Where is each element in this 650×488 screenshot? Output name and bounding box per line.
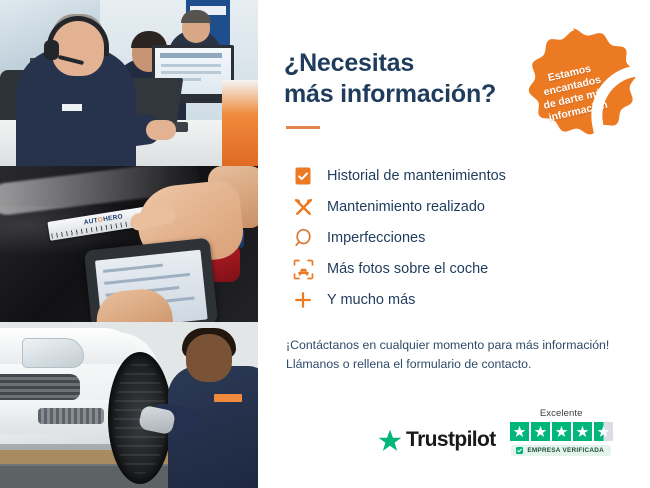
promo-badge: Estamos encantados de darte más informac…: [510, 26, 636, 152]
photo-car-inspection: AUTOHERO: [0, 166, 258, 322]
information-banner: AUTOHERO: [0, 0, 650, 488]
plus-icon: [292, 289, 314, 311]
mechanic-shirt-logo: [214, 394, 242, 402]
monitor-row: [161, 64, 221, 67]
car-air-intake: [38, 408, 104, 424]
agent-name-badge: [62, 104, 82, 111]
trustpilot-rating[interactable]: Trustpilot Excelente: [378, 408, 613, 456]
feature-item-imperfections: Imperfecciones: [292, 223, 650, 254]
photo-call-center: [0, 0, 258, 166]
orange-equipment: [222, 80, 258, 166]
star-filled: [552, 422, 571, 441]
feature-label: Mantenimiento realizado: [327, 199, 485, 215]
star-filled: [573, 422, 592, 441]
verified-business-badge: EMPRESA VERIFICADA: [511, 445, 611, 456]
feature-label: Y mucho más: [327, 292, 415, 308]
tablet-row: [103, 264, 163, 273]
document-check-icon: [292, 165, 314, 187]
trustpilot-logo: Trustpilot: [378, 428, 496, 456]
trustpilot-wordmark: Trustpilot: [406, 428, 496, 452]
monitor-toolbar: [160, 53, 222, 58]
tools-cross-icon: [292, 196, 314, 218]
feature-item-more-photos: Más fotos sobre el coche: [292, 254, 650, 285]
feature-label: Más fotos sobre el coche: [327, 261, 488, 277]
photo-wheel-service: [0, 322, 258, 488]
star-half: [594, 422, 613, 441]
title-underline-rule: [286, 126, 320, 129]
check-square-icon: [516, 447, 523, 454]
monitor-row: [161, 71, 221, 74]
trustpilot-score-block: Excelente: [510, 408, 613, 456]
trustpilot-rating-label: Excelente: [540, 408, 583, 419]
headset-earcup: [44, 40, 59, 60]
trustpilot-star-icon: [378, 429, 402, 452]
feature-item-maintenance-done: Mantenimiento realizado: [292, 192, 650, 223]
tablet-row: [104, 273, 190, 285]
verified-business-label: EMPRESA VERIFICADA: [527, 447, 604, 454]
car-headlight: [22, 338, 84, 368]
feature-label: Imperfecciones: [327, 230, 425, 246]
contact-text: ¡Contáctanos en cualquier momento para m…: [286, 336, 650, 376]
star-filled: [510, 422, 529, 441]
car-scan-icon: [292, 258, 314, 280]
feature-item-much-more: Y mucho más: [292, 285, 650, 316]
trustpilot-stars: [510, 422, 613, 441]
feature-label: Historial de mantenimientos: [327, 168, 506, 184]
page-title: ¿Necesitas más información?: [284, 48, 514, 109]
magnifier-icon: [292, 227, 314, 249]
car-grille: [0, 374, 80, 400]
photo-column: AUTOHERO: [0, 0, 258, 488]
content-panel: ¿Necesitas más información? Estamos enca…: [258, 0, 650, 488]
mechanic-head: [186, 334, 232, 382]
agent-hand: [146, 120, 176, 140]
star-filled: [531, 422, 550, 441]
